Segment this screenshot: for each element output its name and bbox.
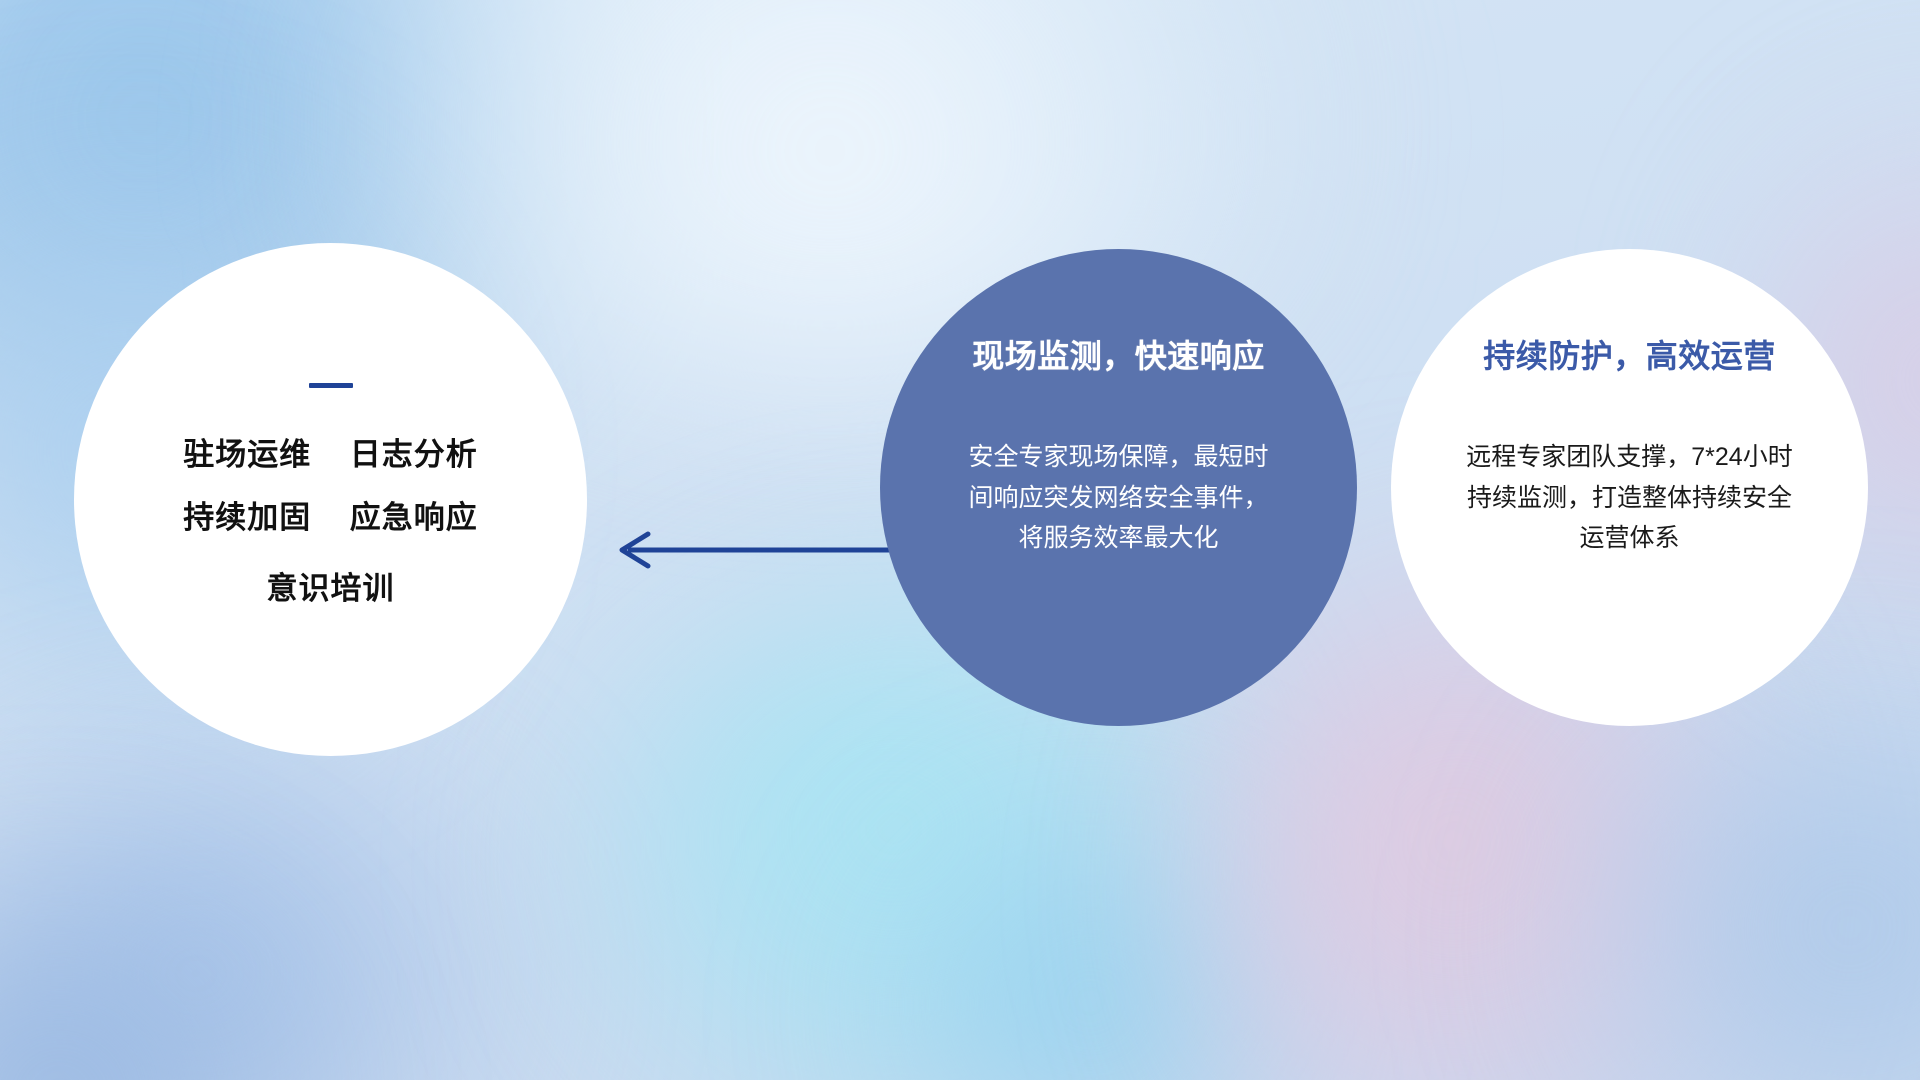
- middle-circle[interactable]: 现场监测，快速响应 安全专家现场保障，最短时间响应突发网络安全事件，将服务效率最…: [880, 249, 1357, 726]
- slide-canvas: 现场监测，快速响应 安全专家现场保障，最短时间响应突发网络安全事件，将服务效率最…: [0, 0, 1920, 1080]
- middle-circle-body: 安全专家现场保障，最短时间响应突发网络安全事件，将服务效率最大化: [969, 437, 1269, 559]
- accent-dash-divider: [309, 383, 353, 388]
- middle-circle-title: 现场监测，快速响应: [972, 331, 1265, 377]
- left-circle-content: 驻场运维 日志分析 持续加固 应急响应 意识培训: [74, 383, 587, 608]
- left-circle-line-1: 驻场运维 日志分析: [183, 436, 477, 473]
- arrow-left-icon: [600, 512, 900, 588]
- right-circle-title: 持续防护，高效运营: [1483, 331, 1776, 377]
- right-circle[interactable]: 持续防护，高效运营 远程专家团队支撑，7*24小时持续监测，打造整体持续安全运营…: [1391, 249, 1868, 726]
- right-circle-body: 远程专家团队支撑，7*24小时持续监测，打造整体持续安全运营体系: [1460, 437, 1800, 559]
- left-circle-line-2: 持续加固 应急响应: [183, 499, 477, 536]
- right-circle-content: 持续防护，高效运营 远程专家团队支撑，7*24小时持续监测，打造整体持续安全运营…: [1391, 331, 1868, 559]
- left-circle[interactable]: 驻场运维 日志分析 持续加固 应急响应 意识培训: [74, 243, 587, 756]
- left-circle-line-3: 意识培训: [267, 570, 395, 607]
- middle-circle-content: 现场监测，快速响应 安全专家现场保障，最短时间响应突发网络安全事件，将服务效率最…: [880, 331, 1357, 559]
- connector-arrow: [600, 512, 900, 588]
